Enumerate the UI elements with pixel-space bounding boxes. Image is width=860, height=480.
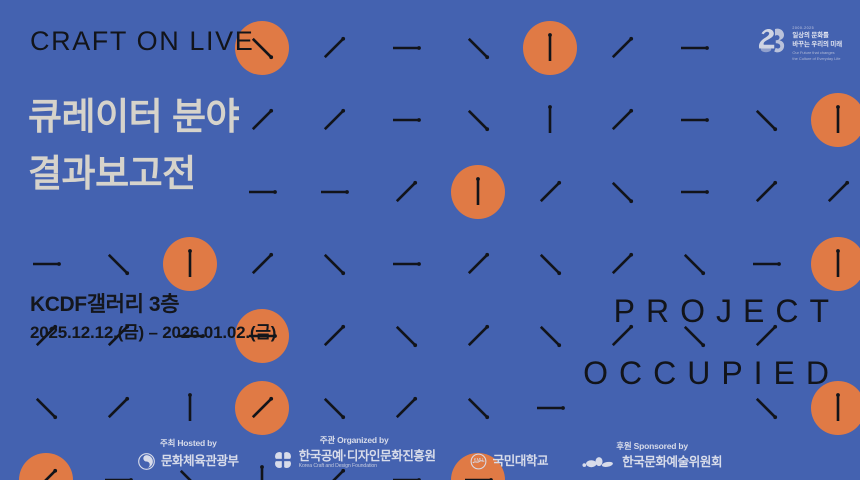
- logo-arko-kr: 한국문화예술위원회: [622, 456, 722, 469]
- footer-group-kookmin: KMU 국민대학교: [470, 448, 549, 470]
- venue-text: KCDF갤러리 3층: [30, 288, 179, 318]
- logo-kcdf-en: Korea Craft and Design Foundation: [299, 464, 436, 469]
- logo-arko-label: 한국문화예술위원회: [622, 456, 722, 469]
- headline-line-2: 결과보고전: [28, 145, 239, 202]
- logo-kcdf: 한국공예·디자인문화진흥원 Korea Craft and Design Fou…: [273, 450, 436, 470]
- anniversary-en-line-1: Our Future that changes: [792, 50, 842, 55]
- poster-canvas: CRAFT ON LIVE 큐레이터 분야 결과보고전 KCDF갤러리 3층 2…: [0, 0, 860, 480]
- clock-pattern: [0, 0, 860, 480]
- footer-caption-sponsor: 후원 Sponsored by: [616, 441, 688, 451]
- footer-caption-host: 주최 Hosted by: [160, 438, 217, 448]
- date-range-text: 2025.12.12.(금) – 2026.01.02.(금): [30, 318, 276, 343]
- svg-text:KMU: KMU: [473, 457, 482, 462]
- 25-anniversary-mark-icon: [757, 26, 787, 56]
- anniversary-kr-line-1: 일상의 문화를: [792, 32, 842, 40]
- logo-kookmin-label: 국민대학교: [493, 455, 549, 468]
- project-title-line-1: PROJECT: [614, 293, 840, 330]
- footer-group-organizer: 주관 Organized by 한국공예·디자인문화진흥원 Korea Craf…: [273, 435, 436, 470]
- anniversary-logo: 2000-2025 일상의 문화를 바꾸는 우리의 미래 Our Future …: [757, 26, 842, 61]
- anniversary-kr-line-2: 바꾸는 우리의 미래: [792, 41, 842, 49]
- logo-kcdf-kr: 한국공예·디자인문화진흥원: [299, 450, 436, 463]
- logo-kookmin: KMU 국민대학교: [470, 453, 549, 470]
- page-title-english: CRAFT ON LIVE: [30, 26, 254, 57]
- arko-dots-icon: [582, 456, 616, 470]
- four-petal-icon: [273, 450, 293, 470]
- anniversary-years: 2000-2025: [792, 27, 842, 31]
- logo-mcst: 문화체육관광부: [138, 453, 239, 470]
- logo-mcst-label: 문화체육관광부: [161, 455, 239, 468]
- footer-group-host: 주최 Hosted by 문화체육관광부: [138, 438, 239, 470]
- kookmin-seal-icon: KMU: [470, 453, 487, 470]
- headline-korean: 큐레이터 분야 결과보고전: [28, 88, 239, 202]
- anniversary-en-line-2: the Culture of Everyday Life: [792, 56, 842, 61]
- footer-caption-organizer: 주관 Organized by: [320, 435, 389, 445]
- logo-mcst-kr: 문화체육관광부: [161, 455, 239, 468]
- logo-arko: 한국문화예술위원회: [582, 456, 722, 470]
- project-title-line-2: OCCUPIED: [583, 355, 840, 392]
- taegeuk-swirl-icon: [138, 453, 155, 470]
- logo-kookmin-kr: 국민대학교: [493, 455, 549, 468]
- footer-logo-bar: 주최 Hosted by 문화체육관광부 주관 Organized by: [0, 435, 860, 470]
- logo-kcdf-label: 한국공예·디자인문화진흥원 Korea Craft and Design Fou…: [299, 450, 436, 470]
- headline-line-1: 큐레이터 분야: [28, 88, 239, 145]
- footer-group-sponsor: 후원 Sponsored by 한국문화예술위원회: [582, 441, 722, 470]
